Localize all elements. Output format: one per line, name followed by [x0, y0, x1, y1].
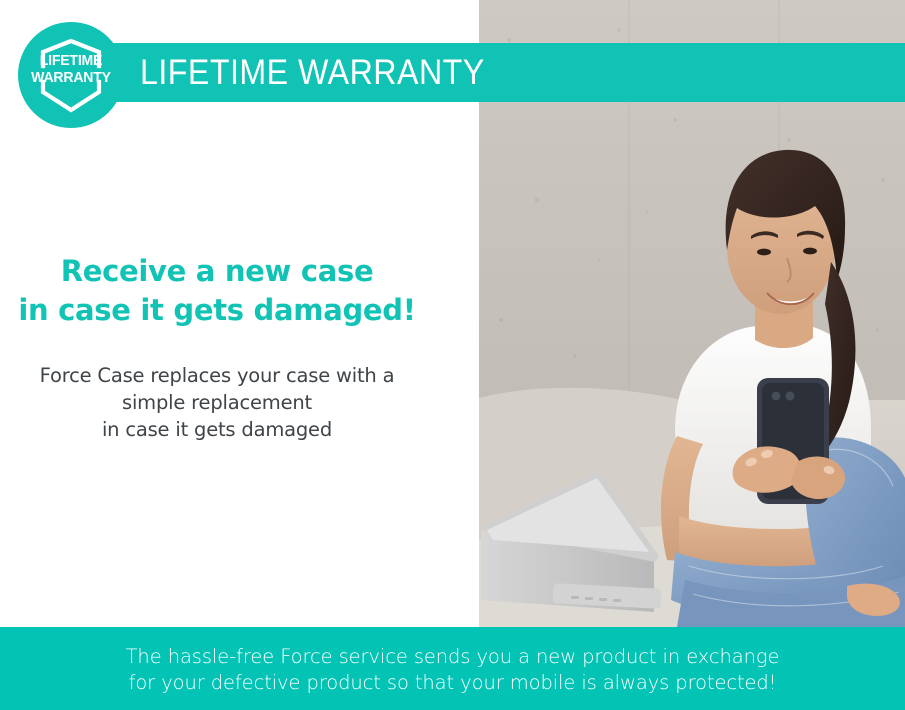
body-line-3: in case it gets damaged [0, 416, 434, 443]
headline-line-2: in case it gets damaged! [0, 291, 434, 330]
badge-label: LIFETIME WARRANTY [20, 53, 123, 87]
headline-line-1: Receive a new case [0, 252, 434, 291]
badge-line-1: LIFETIME [20, 53, 123, 70]
badge-line-2: WARRANTY [20, 70, 123, 87]
footer-line-1: The hassle-free Force service sends you … [0, 644, 905, 670]
body-line-1: Force Case replaces your case with a [0, 362, 434, 389]
footer-text: The hassle-free Force service sends you … [0, 644, 905, 696]
copy-block: Receive a new case in case it gets damag… [0, 252, 434, 443]
footer-line-2: for your defective product so that your … [0, 670, 905, 696]
footer-bar: The hassle-free Force service sends you … [0, 627, 905, 710]
lifetime-warranty-badge: LIFETIME WARRANTY [18, 22, 124, 128]
headline: Receive a new case in case it gets damag… [0, 252, 434, 330]
page-title: LIFETIME WARRANTY [140, 43, 485, 102]
body-line-2: simple replacement [0, 389, 434, 416]
body-text: Force Case replaces your case with a sim… [0, 362, 434, 443]
lifetime-warranty-banner: LIFETIME WARRANTY LIFETIME WARRANTY Rece… [0, 0, 905, 710]
